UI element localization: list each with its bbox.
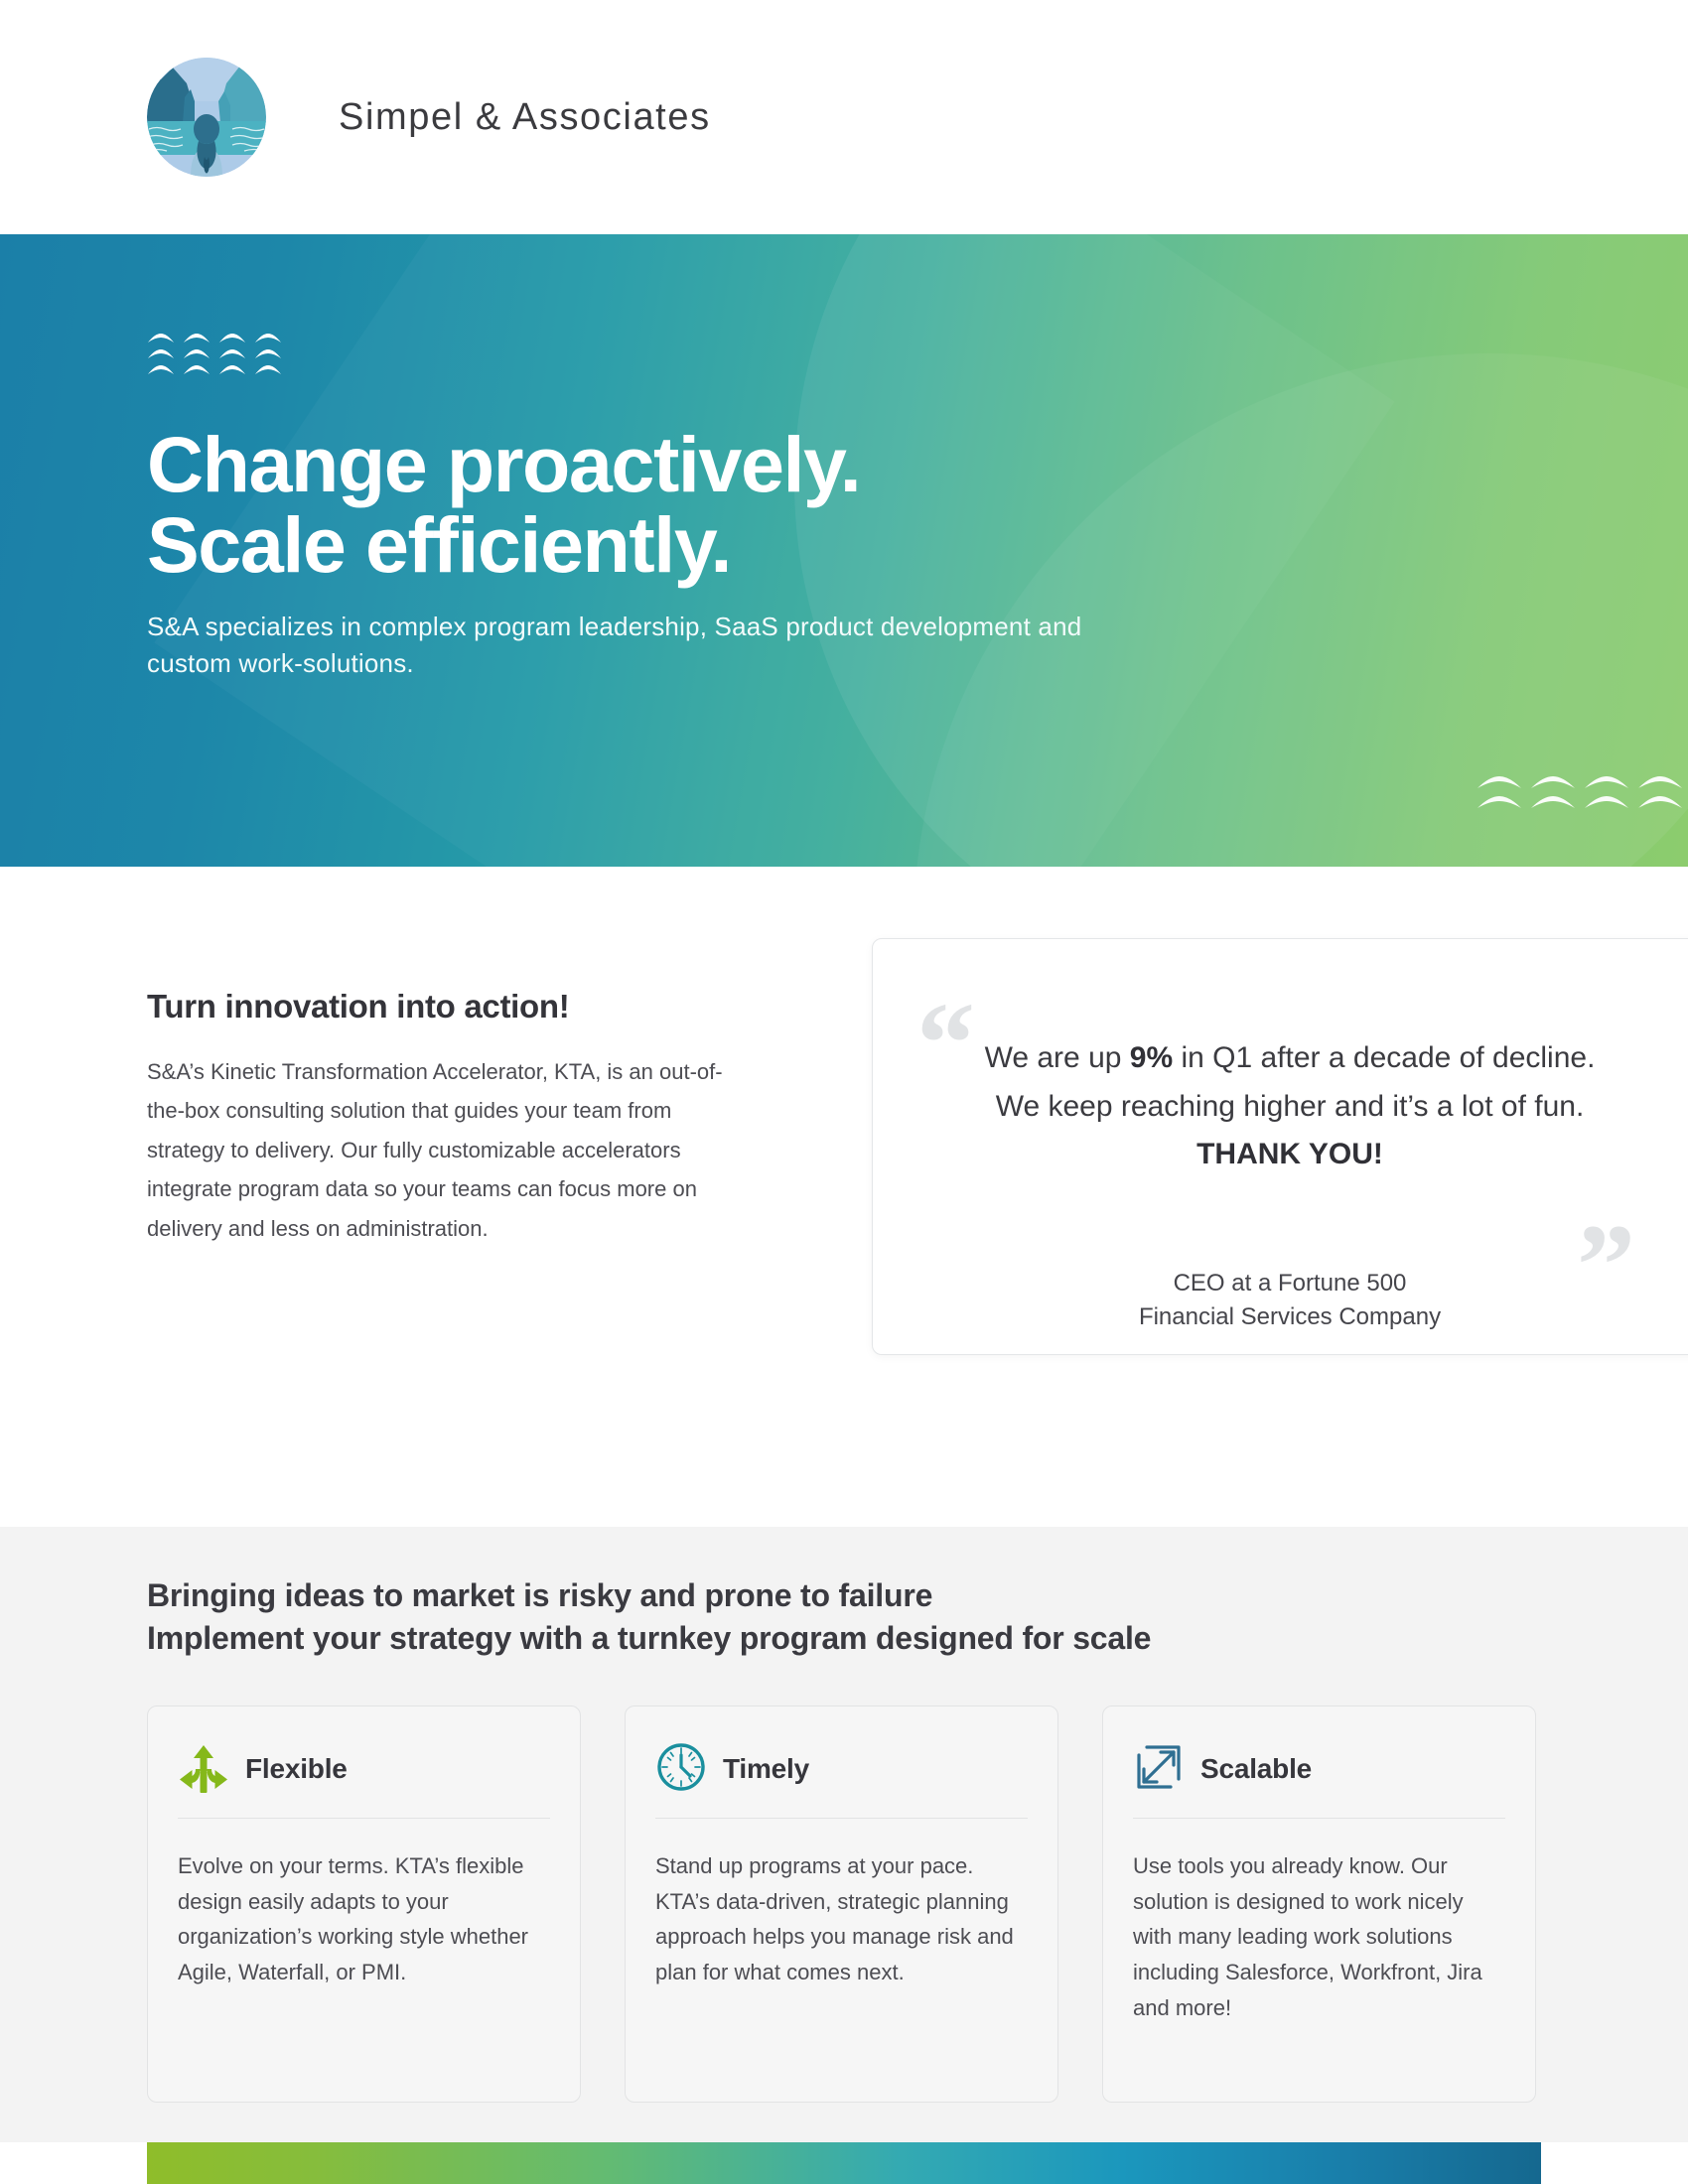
hero-title-line2: Scale efficiently. [147,505,1688,586]
intro-title: Turn innovation into action! [147,988,743,1025]
quote-highlight: 9% [1130,1041,1173,1074]
clock-icon [655,1741,707,1798]
hero-banner: Change proactively. Scale efficiently. S… [0,234,1688,867]
features-heading-line2: Implement your strategy with a turnkey p… [147,1617,1151,1660]
intro-and-testimonial-section: Turn innovation into action! S&A’s Kinet… [0,867,1688,1527]
intro-block: Turn innovation into action! S&A’s Kinet… [147,988,743,1248]
testimonial-attribution: CEO at a Fortune 500 Financial Services … [968,1267,1612,1334]
hero-title: Change proactively. Scale efficiently. [147,425,1688,585]
attribution-line1: CEO at a Fortune 500 [1174,1270,1407,1297]
page-header: Simpel & Associates [0,0,1688,234]
card-divider [178,1818,550,1819]
features-heading-line1: Bringing ideas to market is risky and pr… [147,1574,1151,1617]
wave-chevron-pattern-icon [147,330,292,377]
quote-part1: We are up [985,1041,1130,1074]
feature-card-title: Timely [723,1753,809,1785]
page-root: Simpel & Associates Change proa [0,0,1688,2184]
testimonial-card: “ ” We are up 9% in Q1 after a decade of… [872,938,1688,1355]
open-quote-icon: “ [916,985,975,1102]
feature-card-flexible[interactable]: Flexible Evolve on your terms. KTA’s fle… [147,1706,581,2103]
feature-card-body: Use tools you already know. Our solution… [1133,1848,1505,2025]
feature-card-scalable[interactable]: Scalable Use tools you already know. Our… [1102,1706,1536,2103]
wave-chevron-pattern-icon-right [1474,772,1688,819]
attribution-line2: Financial Services Company [1139,1303,1441,1330]
testimonial-quote-text: We are up 9% in Q1 after a decade of dec… [968,1034,1612,1179]
intro-body: S&A’s Kinetic Transformation Accelerator… [147,1052,743,1248]
hero-title-line1: Change proactively. [147,420,860,508]
card-divider [1133,1818,1505,1819]
card-divider [655,1818,1028,1819]
feature-card-timely[interactable]: Timely Stand up programs at your pace. K… [625,1706,1058,2103]
three-way-arrow-icon [178,1741,229,1798]
feature-card-body: Evolve on your terms. KTA’s flexible des… [178,1848,550,1990]
feature-card-body: Stand up programs at your pace. KTA’s da… [655,1848,1028,1990]
hero-subtitle-line2: custom work-solutions. [147,648,414,678]
features-section: Bringing ideas to market is risky and pr… [0,1527,1688,2142]
feature-card-title: Flexible [245,1753,348,1785]
mountain-lake-circle-logo-icon [147,58,266,177]
brand-name: Simpel & Associates [339,96,711,139]
hero-subtitle: S&A specializes in complex program leade… [147,609,1319,682]
scale-expand-arrow-icon [1133,1741,1185,1798]
feature-cards: Flexible Evolve on your terms. KTA’s fle… [147,1706,1536,2103]
hero-subtitle-line1: S&A specializes in complex program leade… [147,612,1081,641]
footer-gradient-bar [147,2142,1541,2184]
quote-thanks: THANK YOU! [1196,1138,1383,1170]
features-heading: Bringing ideas to market is risky and pr… [147,1574,1151,1660]
feature-card-title: Scalable [1200,1753,1312,1785]
